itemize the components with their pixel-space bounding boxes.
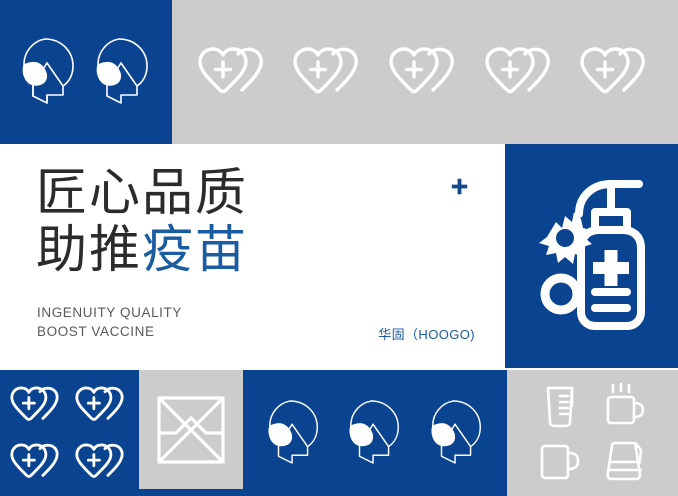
bottom-hearts-panel	[0, 370, 139, 496]
page-title: 匠心品质 助推疫苗	[36, 164, 248, 278]
subtitle-line-2: BOOST VACCINE	[37, 322, 182, 341]
headline-line-2: 助推疫苗	[36, 221, 248, 278]
masked-face-icon	[426, 395, 488, 471]
subtitle-line-1: INGENUITY QUALITY	[37, 303, 182, 322]
bottom-masks-panel	[243, 370, 507, 496]
double-heart-plus-icon	[385, 45, 465, 99]
brand-name: 华固（HOOGO)	[378, 324, 475, 343]
steaming-mug-icon	[603, 383, 647, 429]
bottom-blue-strip	[139, 489, 243, 496]
masked-face-icon	[263, 395, 325, 471]
top-gray-panel	[172, 0, 678, 144]
double-heart-plus-icon	[72, 442, 132, 482]
hand-sanitizer-bottle-icon	[517, 170, 667, 342]
double-heart-plus-icon	[481, 45, 561, 99]
subtitle: INGENUITY QUALITY BOOST VACCINE	[37, 303, 182, 341]
top-band	[0, 0, 678, 144]
medical-plus-icon	[451, 178, 468, 195]
double-heart-plus-icon	[289, 45, 369, 99]
headline-line-2-dark: 助推	[36, 221, 142, 278]
double-heart-plus-icon	[7, 442, 67, 482]
headline-line-2-accent: 疫苗	[142, 221, 248, 278]
circle-germ-shape	[545, 278, 577, 310]
plain-mug-icon	[538, 440, 582, 482]
bottom-containers-panel	[507, 370, 678, 496]
masked-face-icon	[91, 33, 155, 111]
teapot-icon	[602, 440, 648, 482]
sanitizer-panel	[505, 144, 678, 368]
placeholder-panel	[139, 370, 243, 489]
double-heart-plus-icon	[72, 385, 132, 425]
virus-germ-shape	[539, 212, 592, 264]
masked-face-icon	[17, 33, 81, 111]
poster-canvas: 匠心品质 助推疫苗 INGENUITY QUALITY BOOST VACCIN…	[0, 0, 678, 496]
broken-image-placeholder-icon	[156, 395, 226, 465]
middle-band: 匠心品质 助推疫苗 INGENUITY QUALITY BOOST VACCIN…	[0, 144, 678, 368]
double-heart-plus-icon	[7, 385, 67, 425]
measuring-beaker-icon	[540, 384, 580, 428]
double-heart-plus-icon	[194, 45, 274, 99]
double-heart-plus-icon	[576, 45, 656, 99]
masked-face-icon	[344, 395, 406, 471]
headline-line-1: 匠心品质	[36, 164, 248, 221]
bottom-band	[0, 370, 678, 496]
headline-card: 匠心品质 助推疫苗 INGENUITY QUALITY BOOST VACCIN…	[0, 144, 505, 356]
top-blue-panel	[0, 0, 172, 144]
